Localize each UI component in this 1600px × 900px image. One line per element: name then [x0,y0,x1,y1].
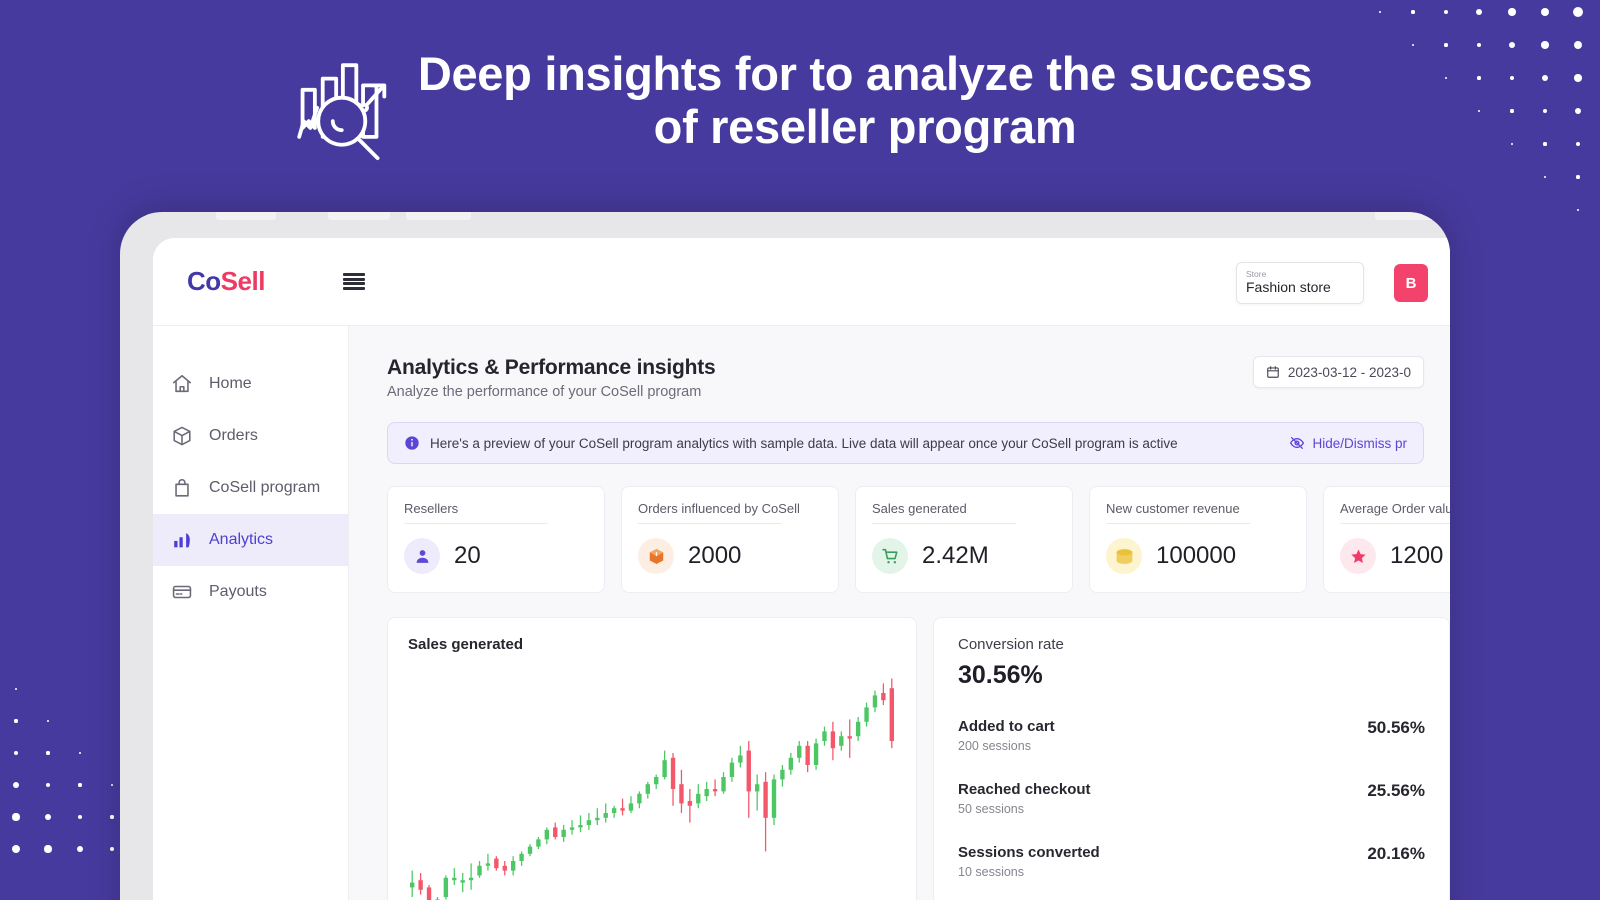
hero-title-line1: Deep insights for to analyze the success [418,47,1312,100]
sidebar-item-analytics[interactable]: Analytics [153,514,348,566]
hero-title-line2: of reseller program [418,101,1312,154]
hide-dismiss-label: Hide/Dismiss pr [1312,436,1407,451]
page-title: Analytics & Performance insights [387,356,716,380]
date-range-value: 2023-03-12 - 2023-0 [1288,365,1411,380]
box-icon [171,425,193,447]
sidebar-item-orders[interactable]: Orders [153,410,348,462]
app-screen: CoSell Store Fashion store B Home [153,238,1450,900]
kpi-card-divider [404,523,548,524]
info-banner: Here's a preview of your CoSell program … [387,422,1424,464]
home-icon [171,373,193,395]
kpi-card-divider [1340,523,1450,524]
sidebar-item-label: CoSell program [209,479,320,497]
kpi-card-label: Orders influenced by CoSell [638,501,822,516]
kpi-card-label: New customer revenue [1106,501,1290,516]
tablet-device-mockup: CoSell Store Fashion store B Home [120,212,1450,900]
person-icon [413,547,432,566]
sidebar: Home Orders CoSell program [153,326,349,900]
info-banner-text: Here's a preview of your CoSell program … [430,436,1178,451]
star-icon [1349,547,1368,566]
credit-card-icon [171,581,193,603]
info-circle-icon [404,435,420,451]
avatar-initial: B [1406,275,1417,292]
kpi-card-value: 20 [454,542,481,570]
kpi-card[interactable]: Average Order value 1200 [1323,486,1450,593]
sidebar-item-label: Analytics [209,531,273,549]
eye-off-icon [1289,435,1305,451]
bar-chart-icon [171,529,193,551]
candlestick-chart-svg [408,663,896,900]
device-button [216,212,276,220]
kpi-card[interactable]: Resellers 20 [387,486,605,593]
kpi-card-divider [638,523,782,524]
bag-icon [171,477,193,499]
conversion-rate-label: Conversion rate [958,636,1425,653]
app-logo[interactable]: CoSell [187,266,265,297]
kpi-card-row: Resellers 20 Orders influenced by CoSell… [387,486,1450,593]
funnel-step-sessions: 200 sessions [958,739,1055,753]
kpi-card-icon [638,538,674,574]
kpi-card-icon [1340,538,1376,574]
funnel-step-name: Reached checkout [958,781,1091,798]
funnel-step-percent: 25.56% [1367,781,1425,801]
sidebar-item-label: Home [209,375,252,393]
conversion-rate-value: 30.56% [958,661,1425,690]
sidebar-item-label: Orders [209,427,258,445]
hero-banner: Deep insights for to analyze the success… [0,48,1600,168]
coin-icon [1114,546,1135,567]
kpi-card[interactable]: New customer revenue 100000 [1089,486,1307,593]
device-button [1375,212,1435,220]
hide-dismiss-button[interactable]: Hide/Dismiss pr [1289,435,1407,451]
kpi-card-label: Sales generated [872,501,1056,516]
conversion-funnel-row: Reached checkout 50 sessions 25.56% [958,781,1425,816]
analytics-panels: Sales generated Conversion rate 30.56% A… [387,617,1450,900]
funnel-step-sessions: 10 sessions [958,865,1100,879]
sidebar-item-payouts[interactable]: Payouts [153,566,348,618]
shopping-cart-icon [881,547,900,566]
package-icon [647,547,666,566]
main-content: Analytics & Performance insights Analyze… [349,326,1450,900]
bar-chart-magnifier-icon [288,52,400,168]
kpi-card-value: 1200 [1390,542,1443,570]
sidebar-item-cosell-program[interactable]: CoSell program [153,462,348,514]
logo-text-sell: Sell [221,266,265,296]
conversion-funnel-row: Sessions converted 10 sessions 20.16% [958,844,1425,879]
conversion-funnel-row: Added to cart 200 sessions 50.56% [958,718,1425,753]
store-selector-value: Fashion store [1246,279,1354,296]
sidebar-item-label: Payouts [209,583,267,601]
kpi-card-icon [1106,538,1142,574]
kpi-card-icon [872,538,908,574]
kpi-card-label: Average Order value [1340,501,1450,516]
kpi-card-value: 2.42M [922,542,989,570]
chart-title: Sales generated [408,636,896,653]
hamburger-menu-icon[interactable] [343,273,365,290]
store-selector-label: Store [1246,270,1354,279]
kpi-card[interactable]: Sales generated 2.42M [855,486,1073,593]
hero-title: Deep insights for to analyze the success… [418,48,1312,153]
kpi-card[interactable]: Orders influenced by CoSell 2000 [621,486,839,593]
candlestick-chart[interactable] [408,663,896,900]
device-button [328,212,390,220]
funnel-step-name: Sessions converted [958,844,1100,861]
app-top-bar: CoSell Store Fashion store B [153,238,1450,326]
device-button [406,212,471,220]
logo-text-co: Co [187,266,221,296]
funnel-step-name: Added to cart [958,718,1055,735]
page-subtitle: Analyze the performance of your CoSell p… [387,384,716,400]
funnel-step-sessions: 50 sessions [958,802,1091,816]
kpi-card-divider [1106,523,1250,524]
conversion-rate-card: Conversion rate 30.56% Added to cart 200… [933,617,1450,900]
kpi-card-icon [404,538,440,574]
funnel-step-percent: 20.16% [1367,844,1425,864]
store-selector[interactable]: Store Fashion store [1236,262,1364,304]
funnel-step-percent: 50.56% [1367,718,1425,738]
avatar[interactable]: B [1394,264,1428,302]
date-range-picker[interactable]: 2023-03-12 - 2023-0 [1253,356,1424,388]
kpi-card-label: Resellers [404,501,588,516]
calendar-icon [1266,365,1280,379]
kpi-card-value: 2000 [688,542,741,570]
kpi-card-value: 100000 [1156,542,1236,570]
sidebar-item-home[interactable]: Home [153,358,348,410]
sales-generated-chart-card: Sales generated [387,617,917,900]
kpi-card-divider [872,523,1016,524]
